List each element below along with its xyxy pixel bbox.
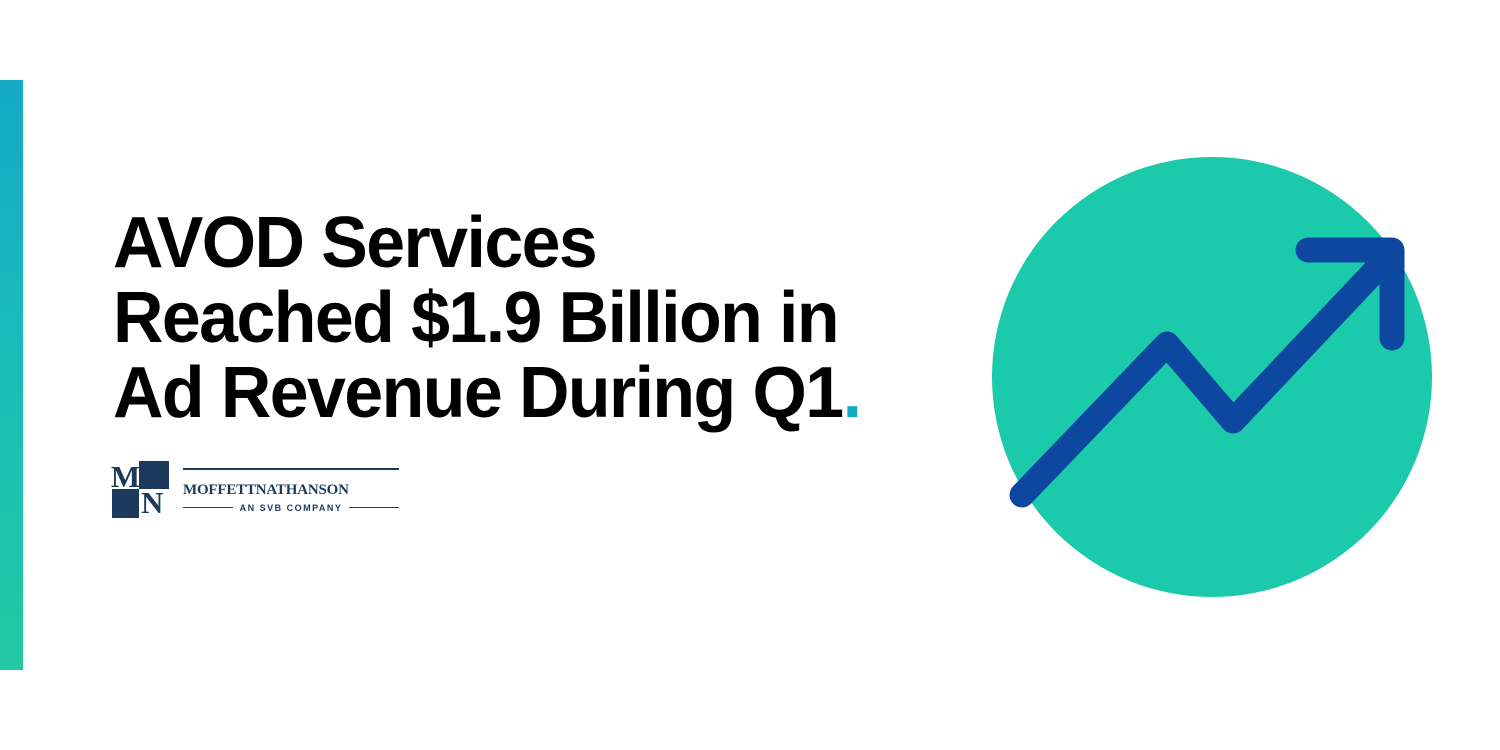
logo-tagline-rule-left: [183, 507, 233, 509]
logo-wordmark: MoffettNathanson AN SVB COMPANY: [183, 467, 399, 513]
logo-company-name: MoffettNathanson: [183, 475, 399, 499]
monogram-letter-m: M: [112, 461, 139, 489]
teal-circle-background: [992, 157, 1432, 597]
headline-text: AVOD Services Reached $1.9 Billion in Ad…: [113, 203, 843, 433]
mn-monogram-icon: M N: [112, 461, 169, 518]
headline-accent-period: .: [843, 353, 862, 433]
headline-block: AVOD Services Reached $1.9 Billion in Ad…: [113, 206, 973, 431]
moffettnathanson-logo: M N MoffettNathanson AN SVB COMPANY: [112, 461, 399, 518]
logo-tagline: AN SVB COMPANY: [240, 503, 343, 513]
logo-tagline-row: AN SVB COMPANY: [183, 503, 399, 513]
page-title: AVOD Services Reached $1.9 Billion in Ad…: [113, 206, 947, 431]
poster-canvas: AVOD Services Reached $1.9 Billion in Ad…: [0, 0, 1500, 750]
monogram-letter-n: N: [139, 489, 169, 518]
monogram-square-bottom-left: [112, 489, 139, 518]
upward-trend-arrow-icon: [985, 150, 1440, 605]
logo-tagline-rule-right: [349, 507, 399, 509]
left-accent-bar: [0, 80, 23, 670]
logo-rule-top: [183, 468, 399, 470]
